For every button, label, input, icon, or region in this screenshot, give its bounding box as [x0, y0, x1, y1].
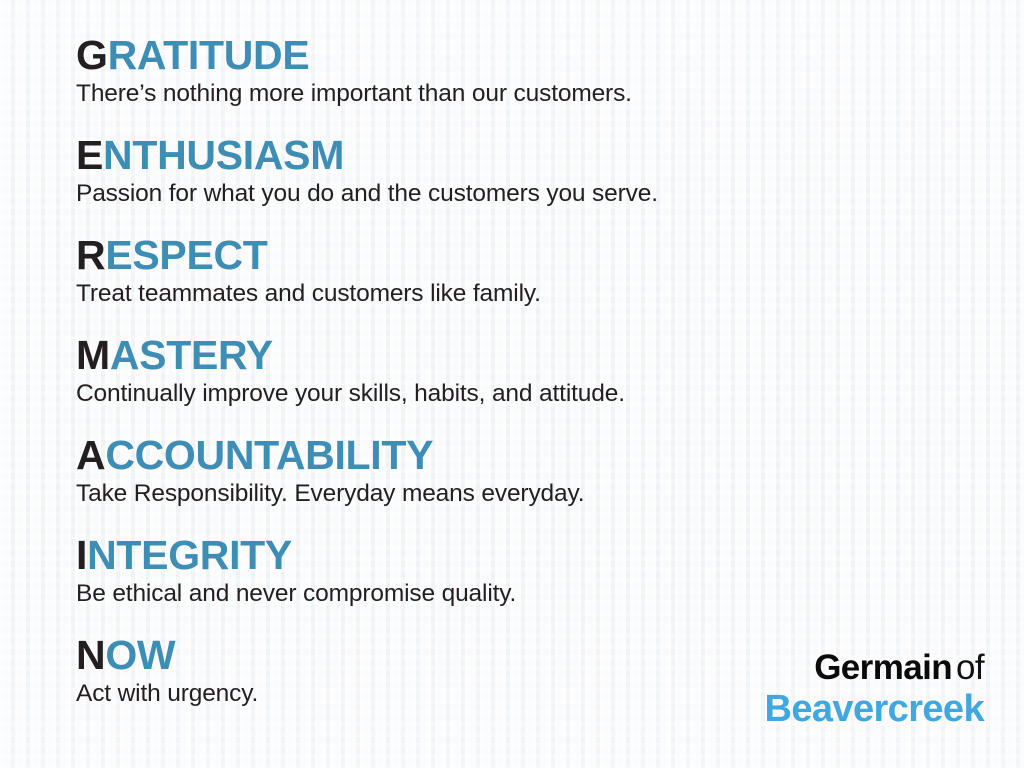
value-initial-letter: A [76, 432, 105, 478]
value-description-respect: Treat teammates and customers like famil… [76, 279, 976, 309]
value-block-accountability: ACCOUNTABILITY Take Responsibility. Ever… [76, 433, 976, 533]
value-initial-letter: E [76, 132, 103, 178]
value-block-mastery: MASTERY Continually improve your skills,… [76, 333, 976, 433]
value-remaining-letters: NTEGRITY [87, 532, 292, 578]
dealership-logo: Germainof Beavercreek [765, 649, 985, 730]
value-description-accountability: Take Responsibility. Everyday means ever… [76, 479, 976, 509]
logo-location-name: Beavercreek [765, 688, 985, 730]
value-heading-enthusiasm: ENTHUSIASM [76, 133, 976, 177]
value-block-gratitude: GRATITUDE There’s nothing more important… [76, 33, 976, 133]
value-initial-letter: I [76, 532, 87, 578]
value-remaining-letters: NTHUSIASM [103, 132, 344, 178]
value-initial-letter: G [76, 32, 108, 78]
value-heading-accountability: ACCOUNTABILITY [76, 433, 976, 477]
value-description-enthusiasm: Passion for what you do and the customer… [76, 179, 976, 209]
core-values-poster: GRATITUDE There’s nothing more important… [0, 0, 1024, 768]
value-heading-mastery: MASTERY [76, 333, 976, 377]
value-heading-integrity: INTEGRITY [76, 533, 976, 577]
logo-brand-name: Germain [814, 648, 952, 687]
value-block-enthusiasm: ENTHUSIASM Passion for what you do and t… [76, 133, 976, 233]
value-heading-respect: RESPECT [76, 233, 976, 277]
value-description-mastery: Continually improve your skills, habits,… [76, 379, 976, 409]
value-remaining-letters: RATITUDE [108, 32, 310, 78]
value-remaining-letters: ESPECT [105, 232, 267, 278]
value-initial-letter: N [76, 632, 105, 678]
value-heading-gratitude: GRATITUDE [76, 33, 976, 77]
value-initial-letter: R [76, 232, 105, 278]
value-block-respect: RESPECT Treat teammates and customers li… [76, 233, 976, 333]
value-remaining-letters: OW [105, 632, 175, 678]
value-initial-letter: M [76, 332, 110, 378]
value-remaining-letters: CCOUNTABILITY [105, 432, 433, 478]
value-block-integrity: INTEGRITY Be ethical and never compromis… [76, 533, 976, 633]
values-list: GRATITUDE There’s nothing more important… [76, 33, 976, 733]
value-remaining-letters: ASTERY [110, 332, 273, 378]
value-description-gratitude: There’s nothing more important than our … [76, 79, 976, 109]
value-description-integrity: Be ethical and never compromise quality. [76, 579, 976, 609]
logo-line-primary: Germainof [765, 649, 985, 687]
logo-connector-word: of [956, 648, 984, 687]
